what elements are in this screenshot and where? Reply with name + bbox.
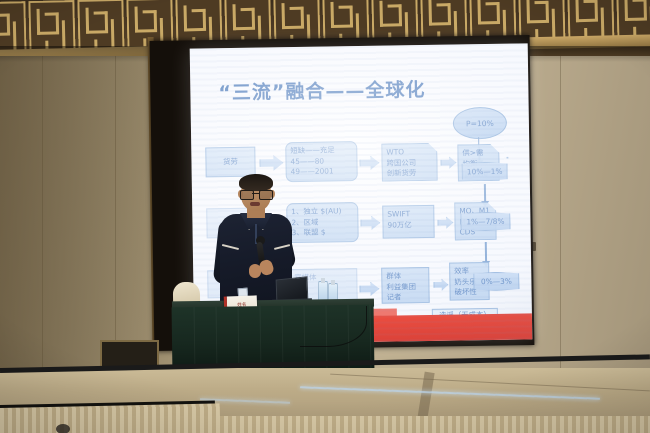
block-arrow [360,216,380,230]
row2-ribbon: 1%—7/8% [460,212,510,232]
row3-box3: 群体 利益集团 记者 [381,267,430,304]
block-arrow [433,279,448,291]
row1-box3: WTO 跨国公司 创新货劳 [381,143,438,182]
arrow-down [484,184,486,202]
glasses-lens [259,190,273,200]
arrow-down [485,242,487,262]
block-arrow [440,156,456,168]
wall-seam [560,52,561,382]
wall-seam [42,52,43,382]
ribbon-hidden [506,157,508,159]
stage-skirt [0,416,650,433]
row3-ribbon: 0%—3% [473,272,519,292]
glasses-lens [240,190,254,200]
block-arrow [259,154,283,171]
glasses-bridge [252,193,259,194]
presenter-hair [239,174,273,191]
row2-box3: SWIFT 90万亿 [382,205,435,239]
block-arrow [359,282,379,296]
row1-box1: 货劳 [205,147,255,178]
probability-ellipse: P=10% [453,107,507,140]
block-arrow [437,217,453,229]
presenter-mouth [250,202,260,206]
photo-scene: “三流”融合——全球化 P=10% 货劳 短缺——充足 45——80 49——2… [0,0,650,433]
slide-title: “三流”融合——全球化 [218,74,478,105]
presenter-hand [249,264,261,278]
floor-marker [56,424,70,433]
wall-seam [115,52,116,382]
block-arrow [359,156,379,170]
glasses-icon [240,190,272,198]
row1-ribbon: 10%—1% [462,162,508,182]
